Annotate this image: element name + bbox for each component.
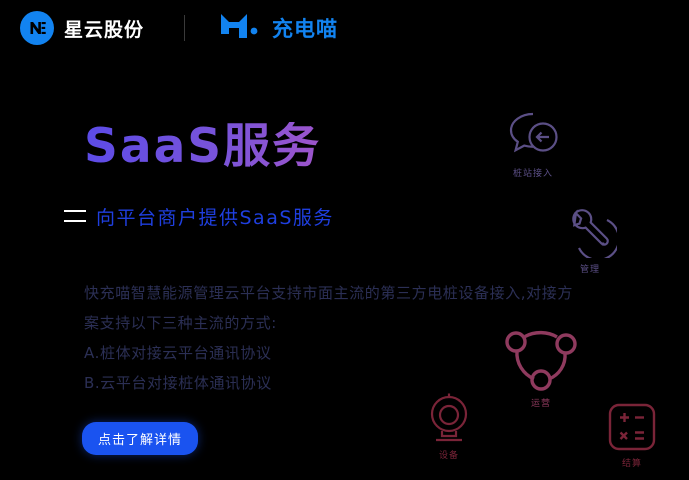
deco-calc-label: 结算 xyxy=(622,456,642,469)
two-line-menu-icon xyxy=(64,210,86,222)
ne-circle-logo-icon xyxy=(20,11,54,45)
network-share-icon xyxy=(503,328,579,392)
brand-primary[interactable]: 星云股份 xyxy=(20,11,144,45)
deco-pile-label: 设备 xyxy=(439,448,459,461)
cat-ear-logo-icon xyxy=(219,12,263,44)
brand-secondary-name: 充电喵 xyxy=(272,13,338,43)
deco-charging-pile: 设备 xyxy=(424,392,474,461)
charging-pile-icon xyxy=(424,392,474,444)
page-header: 星云股份 充电喵 xyxy=(0,0,689,56)
deco-chat-label: 桩站接入 xyxy=(513,166,553,179)
deco-chat-bubble: 桩站接入 xyxy=(502,104,564,179)
deco-network-label: 运营 xyxy=(531,396,551,409)
brand-secondary[interactable]: 充电喵 xyxy=(219,12,338,44)
deco-calculator: 结算 xyxy=(606,402,658,469)
brand-primary-name: 星云股份 xyxy=(64,15,144,42)
deco-network: 运营 xyxy=(503,328,579,409)
hero-subtitle: 向平台商户提供SaaS服务 xyxy=(96,203,334,230)
brand-divider xyxy=(184,15,185,41)
chat-bubble-icon xyxy=(502,104,564,162)
deco-wrench: 管理 xyxy=(563,206,617,275)
wrench-icon xyxy=(563,206,617,258)
deco-wrench-label: 管理 xyxy=(580,262,600,275)
hero-subtitle-row: 向平台商户提供SaaS服务 xyxy=(64,203,604,230)
calculator-icon xyxy=(606,402,658,452)
learn-more-button[interactable]: 点击了解详情 xyxy=(82,422,198,455)
